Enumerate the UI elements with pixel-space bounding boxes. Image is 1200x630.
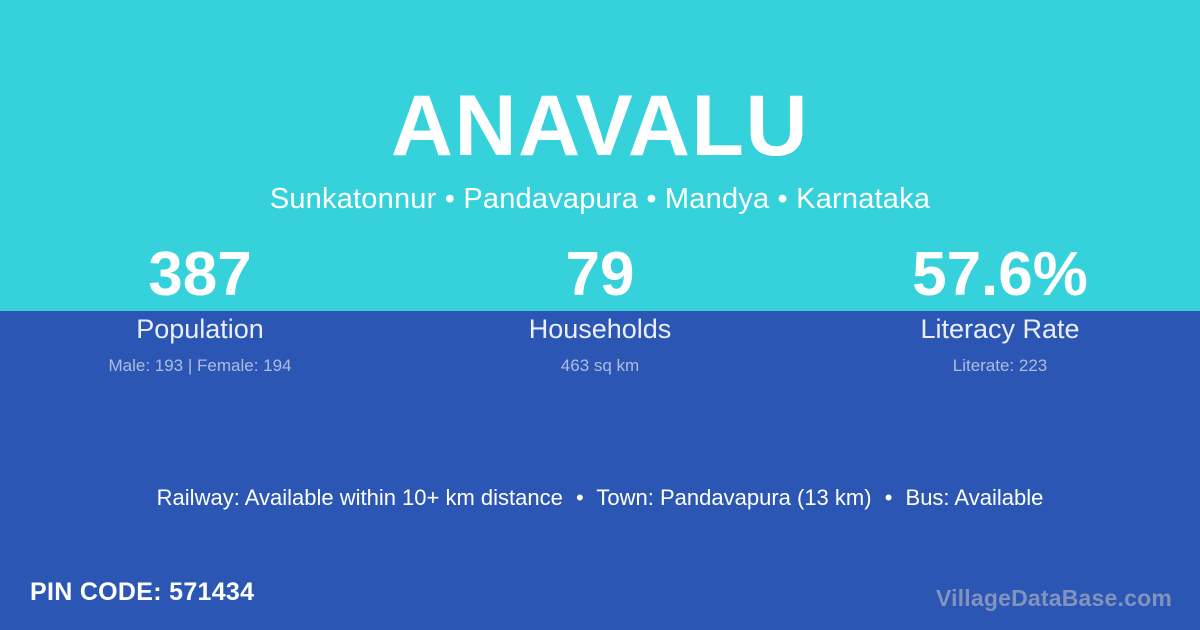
stat-households-label: Households bbox=[400, 312, 800, 346]
infrastructure-line: Railway: Available within 10+ km distanc… bbox=[0, 483, 1200, 513]
stat-population-value: 387 bbox=[0, 240, 400, 310]
stat-literacy-rate-value: 57.6% bbox=[800, 240, 1200, 310]
bullet-separator-icon: • bbox=[569, 485, 591, 510]
village-info-card: ANAVALU Sunkatonnur • Pandavapura • Mand… bbox=[0, 0, 1200, 630]
stat-literacy-rate-sub: Literate: 223 bbox=[800, 355, 1200, 377]
site-watermark: VillageDataBase.com bbox=[936, 583, 1172, 613]
stat-literacy-rate: 57.6% Literacy Rate Literate: 223 bbox=[800, 240, 1200, 377]
stat-households-value: 79 bbox=[400, 240, 800, 310]
infrastructure-railway: Railway: Available within 10+ km distanc… bbox=[157, 485, 563, 510]
bullet-separator-icon: • bbox=[878, 485, 900, 510]
infrastructure-town: Town: Pandavapura (13 km) bbox=[596, 485, 871, 510]
stat-literacy-rate-label: Literacy Rate bbox=[800, 312, 1200, 346]
stats-row: 387 Population Male: 193 | Female: 194 7… bbox=[0, 240, 1200, 377]
page-title: ANAVALU bbox=[0, 78, 1200, 174]
stat-population-sub: Male: 193 | Female: 194 bbox=[0, 355, 400, 377]
stat-population: 387 Population Male: 193 | Female: 194 bbox=[0, 240, 400, 377]
stat-households: 79 Households 463 sq km bbox=[400, 240, 800, 377]
stat-households-sub: 463 sq km bbox=[400, 355, 800, 377]
breadcrumb: Sunkatonnur • Pandavapura • Mandya • Kar… bbox=[0, 181, 1200, 217]
stat-population-label: Population bbox=[0, 312, 400, 346]
pin-code: PIN CODE: 571434 bbox=[30, 576, 254, 608]
infrastructure-bus: Bus: Available bbox=[906, 485, 1044, 510]
